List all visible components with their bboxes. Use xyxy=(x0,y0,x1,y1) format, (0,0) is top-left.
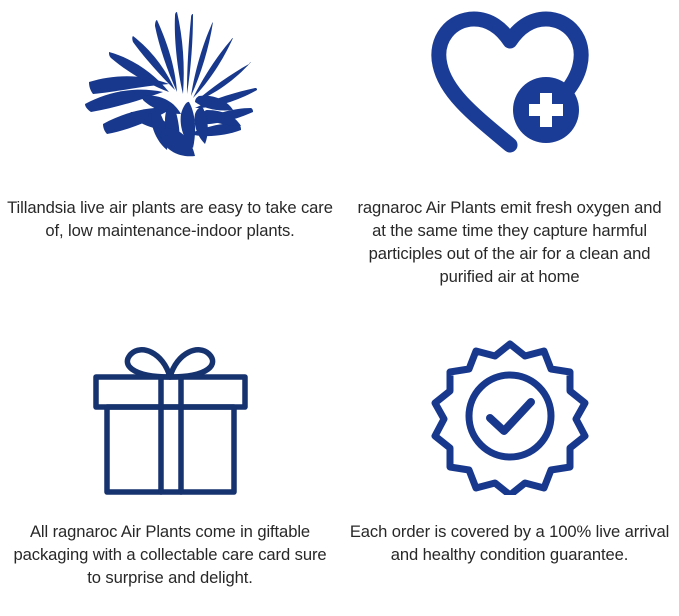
feature-cell-fresh-oxygen: ragnaroc Air Plants emit fresh oxygen an… xyxy=(340,0,679,308)
heart-plus-icon xyxy=(340,0,679,160)
feature-caption: Each order is covered by a 100% live arr… xyxy=(345,498,675,566)
feature-grid: Tillandsia live air plants are easy to t… xyxy=(0,0,679,616)
feature-cell-live-arrival-guarantee: Each order is covered by a 100% live arr… xyxy=(340,308,679,616)
feature-caption: Tillandsia live air plants are easy to t… xyxy=(3,160,338,242)
feature-caption: ragnaroc Air Plants emit fresh oxygen an… xyxy=(345,160,675,288)
feature-cell-giftable-packaging: All ragnaroc Air Plants come in giftable… xyxy=(0,308,340,616)
feature-cell-air-plant-care: Tillandsia live air plants are easy to t… xyxy=(0,0,340,308)
feature-caption: All ragnaroc Air Plants come in giftable… xyxy=(2,498,338,589)
guarantee-badge-icon xyxy=(340,308,679,498)
gift-box-icon xyxy=(0,308,340,498)
air-plant-icon xyxy=(0,0,340,160)
